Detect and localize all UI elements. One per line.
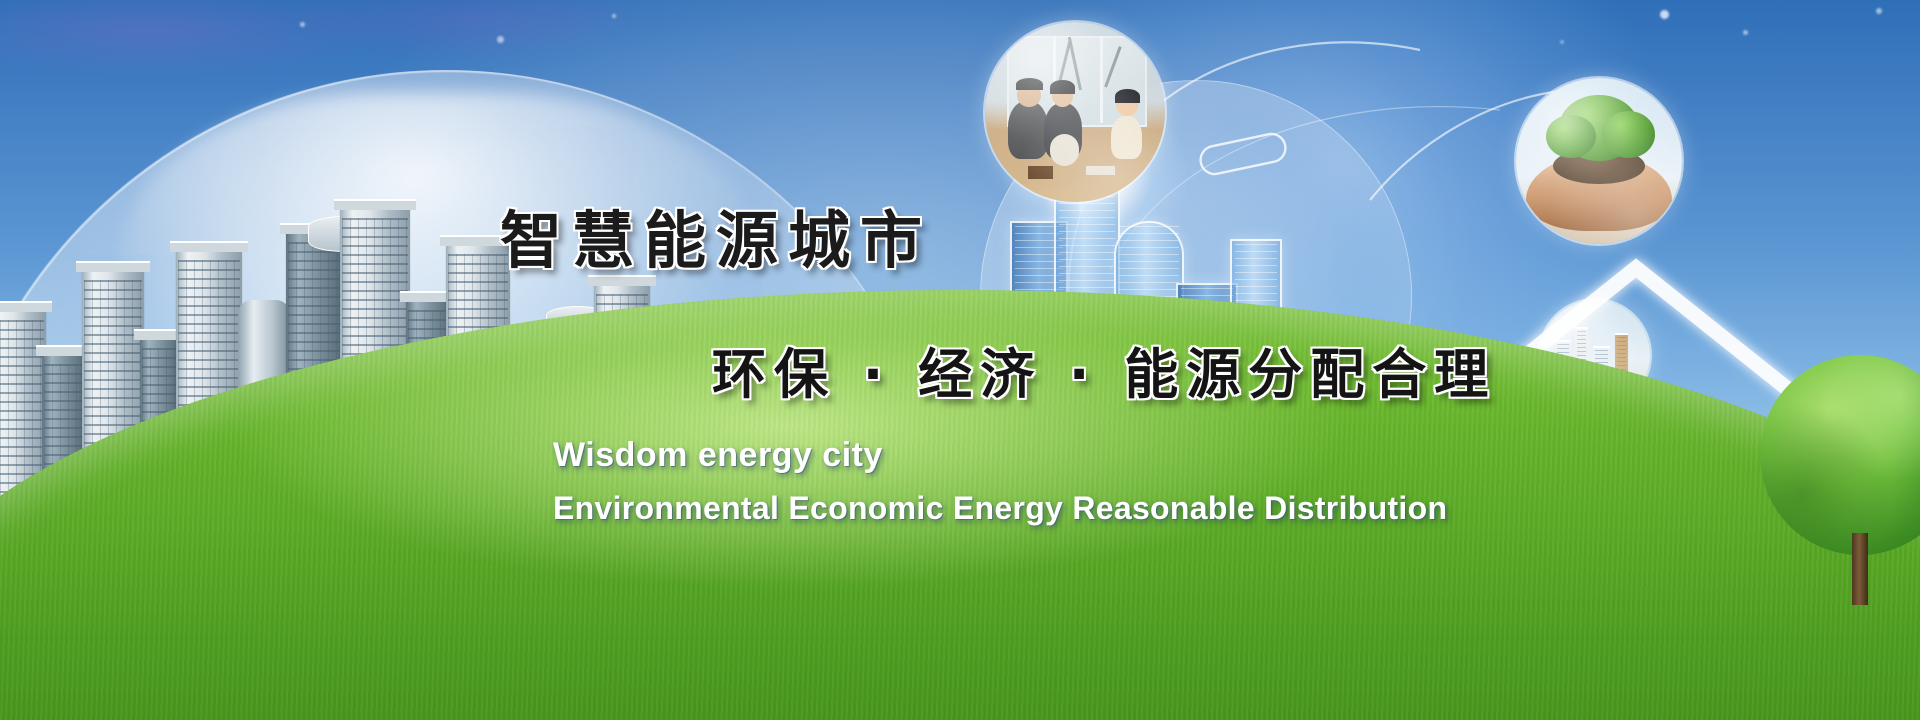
tree-trunk — [1852, 533, 1868, 605]
energy-city-banner: 智慧能源城市 环保 · 经济 · 能源分配合理 Wisdom energy ci… — [0, 0, 1920, 720]
tree-crown — [1760, 355, 1920, 555]
bubble-gloss — [1516, 78, 1682, 244]
tree-in-hand-bubble — [1516, 78, 1682, 244]
sky-speck — [1876, 8, 1882, 14]
sky-speck — [1560, 40, 1564, 44]
sky-speck — [300, 22, 305, 27]
green-tree — [1760, 355, 1920, 605]
sky-speck — [497, 36, 504, 43]
sky-speck — [1743, 30, 1748, 35]
bubble-gloss — [985, 22, 1165, 202]
sky-speck — [1660, 10, 1669, 19]
sky-speck — [612, 14, 616, 18]
family-in-bubble — [985, 22, 1165, 202]
